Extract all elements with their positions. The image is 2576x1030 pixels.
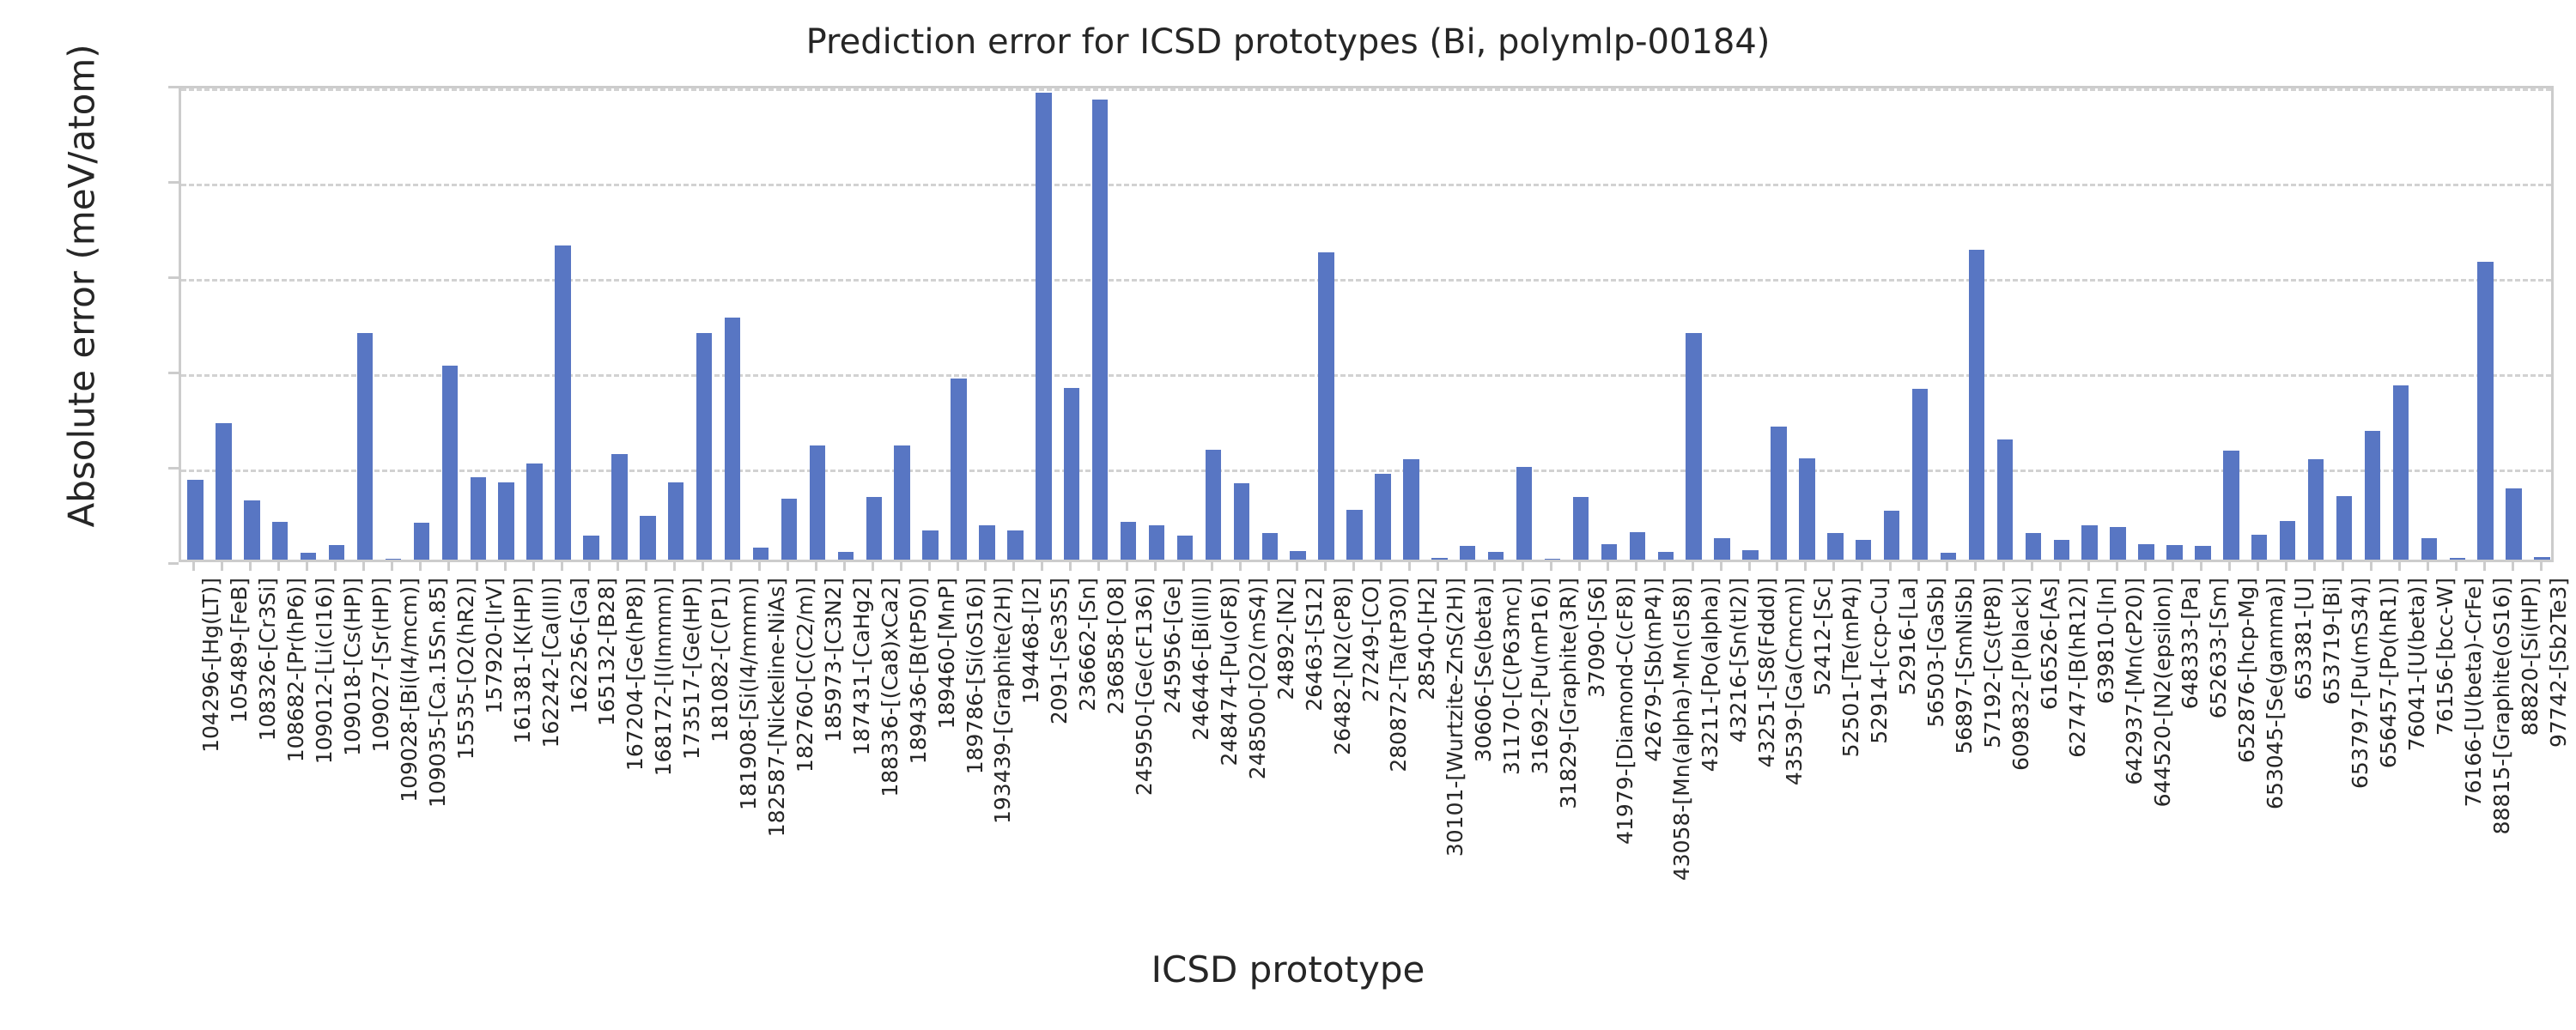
bar: [1262, 533, 1278, 560]
x-tick-label: 108682-[Pr(hP6)]: [285, 578, 307, 762]
x-tick-mark: [730, 562, 732, 571]
x-tick-label: 109012-[Li(cI16)]: [313, 578, 336, 764]
x-tick-label: 52914-[ccp-Cu]: [1868, 578, 1891, 744]
x-tick-mark: [2059, 562, 2062, 571]
x-tick-mark: [1889, 562, 1892, 571]
x-tick-mark: [1832, 562, 1835, 571]
bar: [1630, 532, 1645, 560]
bar: [1431, 558, 1447, 560]
y-tick-mark: [168, 181, 179, 184]
x-tick-label: 109018-[Cs(HP)]: [342, 578, 364, 756]
bar: [1149, 525, 1164, 560]
x-axis: 104296-[Hg(LT)]105489-[FeB]108326-[Cr3Si…: [179, 562, 2554, 931]
x-tick-mark: [2228, 562, 2231, 571]
x-tick-label: 108326-[Cr3Si]: [257, 578, 279, 741]
x-tick-mark: [2370, 562, 2372, 571]
x-tick-mark: [2342, 562, 2344, 571]
bar: [2081, 525, 2097, 560]
y-tick-mark: [168, 562, 179, 565]
bar: [216, 423, 231, 560]
x-tick-label: 236858-[O8]: [1105, 578, 1127, 715]
x-tick-label: 642937-[Mn(cP20)]: [2123, 578, 2146, 785]
x-tick-label: 15535-[O2(hR2)]: [455, 578, 477, 760]
x-tick-label: 109027-[Sr(HP)]: [370, 578, 392, 753]
x-tick-label: 76041-[U(beta)]: [2406, 578, 2428, 751]
x-tick-mark: [447, 562, 450, 571]
bar: [301, 553, 316, 560]
bar: [611, 454, 627, 560]
y-tick-mark: [168, 372, 179, 374]
x-tick-mark: [588, 562, 591, 571]
x-tick-label: 28540-[H2]: [1416, 578, 1438, 700]
bar: [979, 525, 994, 560]
bar: [2393, 385, 2409, 560]
x-tick-mark: [758, 562, 761, 571]
x-tick-label: 194468-[I2]: [1020, 578, 1042, 704]
x-tick-mark: [1804, 562, 1807, 571]
x-tick-mark: [2427, 562, 2429, 571]
x-tick-label: 182760-[C(C2/m)]: [794, 578, 817, 772]
bar: [1686, 333, 1701, 560]
x-tick-mark: [221, 562, 223, 571]
x-tick-label: 182587-[Nickeline-NiAs]: [766, 578, 788, 837]
x-tick-mark: [2285, 562, 2287, 571]
x-tick-label: 280872-[Ta(tP30)]: [1388, 578, 1410, 772]
bar: [696, 333, 712, 560]
x-tick-mark: [1522, 562, 1524, 571]
bar: [272, 522, 288, 560]
bar: [1177, 536, 1193, 560]
x-tick-mark: [561, 562, 563, 571]
bar: [1573, 497, 1589, 560]
x-tick-label: 639810-[In]: [2095, 578, 2117, 704]
x-tick-label: 181082-[C(P1)]: [709, 578, 732, 742]
x-tick-label: 26463-[S12]: [1303, 578, 1326, 712]
x-tick-label: 109035-[Ca.15Sn.85]: [427, 578, 449, 808]
x-tick-label: 24892-[N2]: [1275, 578, 1297, 700]
x-tick-label: 246446-[Bi(III)]: [1190, 578, 1212, 741]
x-tick-label: 653381-[U]: [2293, 578, 2315, 700]
bar: [1007, 530, 1023, 560]
x-tick-label: 653719-[Bi]: [2321, 578, 2343, 705]
bar: [583, 536, 598, 560]
x-tick-mark: [1126, 562, 1128, 571]
x-tick-label: 31829-[Graphite(3R)]: [1558, 578, 1580, 809]
x-tick-label: 43539-[Ga(Cmcm)]: [1783, 578, 1806, 785]
x-tick-mark: [1635, 562, 1637, 571]
x-tick-mark: [1861, 562, 1863, 571]
x-tick-label: 2091-[Se3S5]: [1048, 578, 1071, 724]
x-tick-mark: [1607, 562, 1609, 571]
x-tick-mark: [192, 562, 195, 571]
x-tick-mark: [1154, 562, 1157, 571]
x-tick-mark: [2172, 562, 2174, 571]
x-tick-label: 109028-[Bi(I4/mcm)]: [398, 578, 421, 803]
x-tick-mark: [362, 562, 365, 571]
x-tick-label: 162242-[Ca(III)]: [540, 578, 562, 748]
bar: [2251, 535, 2267, 560]
x-tick-label: 165132-[B28]: [596, 578, 618, 726]
x-tick-mark: [532, 562, 535, 571]
x-tick-label: 653797-[Pu(mS34)]: [2349, 578, 2372, 789]
x-tick-mark: [1267, 562, 1270, 571]
bar: [2421, 538, 2437, 560]
x-tick-label: 161381-[K(HP)]: [512, 578, 534, 744]
x-tick-label: 189786-[Si(oS16)]: [964, 578, 987, 774]
bar: [2166, 545, 2182, 560]
bar: [2195, 546, 2210, 560]
bar: [2534, 557, 2549, 560]
x-tick-mark: [872, 562, 874, 571]
x-tick-label: 52916-[La]: [1897, 578, 1919, 695]
y-tick-mark: [168, 467, 179, 470]
x-tick-label: 236662-[Sn]: [1077, 578, 1099, 712]
x-tick-label: 88820-[Si(HP)]: [2519, 578, 2542, 736]
x-tick-label: 104296-[Hg(LT)]: [200, 578, 222, 753]
x-tick-label: 644520-[N2(epsilon)]: [2152, 578, 2174, 807]
x-tick-mark: [306, 562, 308, 571]
x-tick-mark: [2455, 562, 2458, 571]
x-tick-label: 52501-[Te(mP4)]: [1840, 578, 1862, 757]
x-tick-mark: [673, 562, 676, 571]
x-tick-label: 245950-[Ge(cF136)]: [1133, 578, 1156, 796]
bar: [2336, 496, 2352, 560]
bar: [2365, 431, 2380, 560]
x-tick-mark: [617, 562, 619, 571]
bar: [2026, 533, 2041, 560]
bar: [2223, 451, 2239, 560]
x-tick-label: 157920-[IrV]: [483, 578, 506, 714]
x-tick-mark: [1069, 562, 1072, 571]
x-tick-label: 648333-[Pa]: [2179, 578, 2202, 709]
x-tick-label: 27249-[CO]: [1360, 578, 1382, 702]
x-tick-mark: [957, 562, 959, 571]
x-tick-label: 616526-[As]: [2038, 578, 2061, 710]
bar: [1092, 100, 1108, 560]
bar: [1799, 458, 1814, 560]
x-tick-mark: [815, 562, 817, 571]
x-tick-mark: [1946, 562, 1948, 571]
x-tick-label: 105489-[FeB]: [228, 578, 251, 724]
x-tick-mark: [1493, 562, 1496, 571]
x-tick-mark: [2200, 562, 2202, 571]
bar: [1742, 550, 1758, 560]
bar: [1516, 467, 1532, 560]
x-tick-mark: [419, 562, 422, 571]
x-tick-mark: [2483, 562, 2486, 571]
bar: [187, 480, 203, 560]
y-tick-mark: [168, 276, 179, 279]
x-tick-label: 43216-[Sn(tI2)]: [1728, 578, 1750, 742]
x-tick-label: 609832-[P(black)]: [2010, 578, 2032, 771]
bar: [668, 482, 683, 560]
x-tick-label: 62747-[B(hR12)]: [2067, 578, 2089, 758]
x-tick-label: 97742-[Sb2Te3]: [2548, 578, 2570, 748]
bar: [640, 516, 655, 560]
bar: [1601, 544, 1617, 560]
bar: [1969, 250, 1984, 560]
bar: [526, 463, 542, 560]
x-tick-mark: [1663, 562, 1666, 571]
bar: [753, 548, 769, 560]
x-axis-label: ICSD prototype: [0, 948, 2576, 991]
x-tick-label: 185973-[C3N2]: [823, 578, 845, 742]
x-tick-mark: [2398, 562, 2401, 571]
bar: [2138, 544, 2154, 560]
bar: [1290, 551, 1305, 560]
x-tick-mark: [334, 562, 337, 571]
bar: [1460, 546, 1475, 560]
bar: [1771, 427, 1786, 560]
bar: [244, 500, 259, 560]
x-tick-mark: [843, 562, 846, 571]
x-tick-mark: [1041, 562, 1043, 571]
x-tick-label: 162256-[Ga]: [568, 578, 591, 714]
bar: [781, 499, 797, 560]
x-tick-mark: [1917, 562, 1920, 571]
bar: [1234, 483, 1249, 560]
x-tick-label: 168172-[I(Immm)]: [653, 578, 675, 776]
x-tick-mark: [1692, 562, 1694, 571]
bar: [2450, 558, 2465, 560]
x-tick-label: 88815-[Graphite(oS16)]: [2491, 578, 2513, 834]
x-tick-mark: [1408, 562, 1411, 571]
x-tick-label: 188336-[(Ca8)xCa2]: [879, 578, 902, 797]
bar: [810, 445, 825, 560]
y-tick-mark: [168, 86, 179, 88]
bar: [414, 523, 429, 560]
x-tick-label: 653045-[Se(gamma)]: [2264, 578, 2287, 809]
plot-area: [179, 86, 2554, 562]
chart-figure: Prediction error for ICSD prototypes (Bi…: [0, 0, 2576, 1030]
bar: [1658, 552, 1674, 560]
bar: [1997, 439, 2013, 560]
bar: [2506, 488, 2521, 560]
x-tick-mark: [1097, 562, 1100, 571]
x-tick-mark: [277, 562, 280, 571]
x-tick-label: 656457-[Po(hR1)]: [2378, 578, 2400, 768]
bar: [1318, 252, 1334, 560]
x-tick-label: 30101-[Wurtzite-ZnS(2H)]: [1444, 578, 1467, 857]
bar: [1346, 510, 1362, 560]
x-tick-mark: [2087, 562, 2090, 571]
bar: [2110, 527, 2125, 560]
x-tick-label: 56897-[SmNiSb]: [1953, 578, 1976, 754]
bar: [866, 497, 882, 560]
bar: [1036, 93, 1051, 560]
x-tick-mark: [2116, 562, 2118, 571]
x-tick-label: 43211-[Po(alpha)]: [1699, 578, 1722, 772]
x-tick-label: 30606-[Se(beta)]: [1473, 578, 1495, 762]
x-tick-mark: [1296, 562, 1298, 571]
bar: [498, 482, 513, 560]
x-tick-mark: [1239, 562, 1242, 571]
x-tick-mark: [1211, 562, 1213, 571]
x-tick-mark: [1720, 562, 1722, 571]
x-tick-label: 37090-[S6]: [1586, 578, 1608, 698]
x-tick-mark: [249, 562, 252, 571]
x-tick-mark: [702, 562, 704, 571]
bar: [1714, 538, 1729, 560]
x-tick-label: 187431-[CaHg2]: [851, 578, 873, 755]
x-tick-label: 31170-[C(P63mc)]: [1501, 578, 1523, 775]
x-tick-mark: [2144, 562, 2147, 571]
x-tick-mark: [928, 562, 931, 571]
x-tick-label: 41979-[Diamond-C(cF8)]: [1614, 578, 1637, 845]
bar: [329, 545, 344, 560]
x-tick-mark: [900, 562, 902, 571]
x-tick-label: 189436-[B(tP50)]: [908, 578, 930, 764]
x-tick-label: 42679-[Sb(mP4)]: [1643, 578, 1665, 762]
x-tick-mark: [2002, 562, 2005, 571]
x-tick-mark: [1748, 562, 1751, 571]
bar: [1375, 474, 1390, 560]
bar: [442, 366, 458, 560]
x-tick-mark: [984, 562, 987, 571]
bar: [1403, 459, 1419, 560]
bar: [2477, 262, 2493, 560]
bar: [357, 333, 373, 560]
x-tick-mark: [1776, 562, 1778, 571]
bar: [2054, 540, 2069, 560]
bar: [386, 559, 401, 560]
x-tick-mark: [1578, 562, 1581, 571]
x-tick-label: 652633-[Sm]: [2208, 578, 2230, 718]
x-tick-label: 245956-[Ge]: [1162, 578, 1184, 714]
bar: [725, 318, 740, 560]
x-tick-mark: [2540, 562, 2543, 571]
x-tick-label: 76166-[U(beta)-CrFe]: [2463, 578, 2485, 807]
x-tick-mark: [476, 562, 478, 571]
bar: [2280, 521, 2295, 560]
bar: [2308, 459, 2324, 560]
bar: [1206, 450, 1221, 560]
bar: [1488, 552, 1504, 560]
x-tick-label: 26482-[N2(cP8)]: [1332, 578, 1354, 755]
x-tick-label: 181908-[Si(I4/mmm)]: [738, 578, 760, 810]
bar-series: [181, 88, 2551, 560]
x-tick-label: 52412-[Sc]: [1812, 578, 1834, 696]
x-tick-mark: [2031, 562, 2033, 571]
x-tick-mark: [1012, 562, 1015, 571]
x-tick-mark: [787, 562, 789, 571]
page-title: Prediction error for ICSD prototypes (Bi…: [0, 22, 2576, 62]
x-tick-mark: [1465, 562, 1467, 571]
bar: [1856, 540, 1871, 560]
x-tick-label: 43058-[Mn(alpha)-Mn(cI58)]: [1671, 578, 1693, 881]
bar: [555, 245, 570, 560]
bar: [894, 445, 909, 560]
x-tick-mark: [1437, 562, 1439, 571]
x-tick-mark: [1182, 562, 1185, 571]
bar: [1912, 389, 1928, 560]
x-tick-mark: [1550, 562, 1552, 571]
bar: [1064, 388, 1079, 560]
x-tick-mark: [2512, 562, 2514, 571]
x-tick-label: 173517-[Ge(HP)]: [681, 578, 703, 760]
x-tick-label: 76156-[bcc-W]: [2434, 578, 2457, 736]
x-tick-label: 193439-[Graphite(2H)]: [992, 578, 1014, 824]
x-tick-label: 652876-[hcp-Mg]: [2236, 578, 2258, 763]
x-tick-mark: [645, 562, 647, 571]
bar: [1884, 511, 1899, 560]
x-tick-label: 248474-[Pu(oF8)]: [1218, 578, 1241, 766]
x-tick-mark: [2313, 562, 2316, 571]
x-tick-mark: [1974, 562, 1977, 571]
x-tick-label: 189460-[MnP]: [936, 578, 958, 729]
y-axis-label: Absolute error (meV/atom): [61, 47, 103, 528]
x-tick-label: 56503-[GaSb]: [1925, 578, 1947, 728]
x-tick-mark: [1380, 562, 1382, 571]
bar: [471, 477, 486, 560]
bar: [1545, 559, 1560, 560]
bar: [1121, 522, 1136, 560]
x-tick-label: 57192-[Cs(tP8)]: [1982, 578, 2004, 748]
x-tick-mark: [391, 562, 393, 571]
x-tick-label: 43251-[S8(Fddd)]: [1756, 578, 1778, 767]
x-tick-label: 248500-[O2(mS4)]: [1247, 578, 1269, 779]
x-tick-mark: [504, 562, 507, 571]
x-tick-label: 167204-[Ge(hP8)]: [624, 578, 647, 771]
bar: [951, 379, 966, 560]
x-tick-mark: [1352, 562, 1355, 571]
x-tick-mark: [2257, 562, 2259, 571]
bar: [838, 552, 854, 560]
bar: [922, 530, 938, 560]
bar: [1941, 553, 1956, 560]
x-tick-label: 31692-[Pu(mP16)]: [1529, 578, 1552, 774]
x-tick-mark: [1324, 562, 1327, 571]
bar: [1827, 533, 1843, 560]
